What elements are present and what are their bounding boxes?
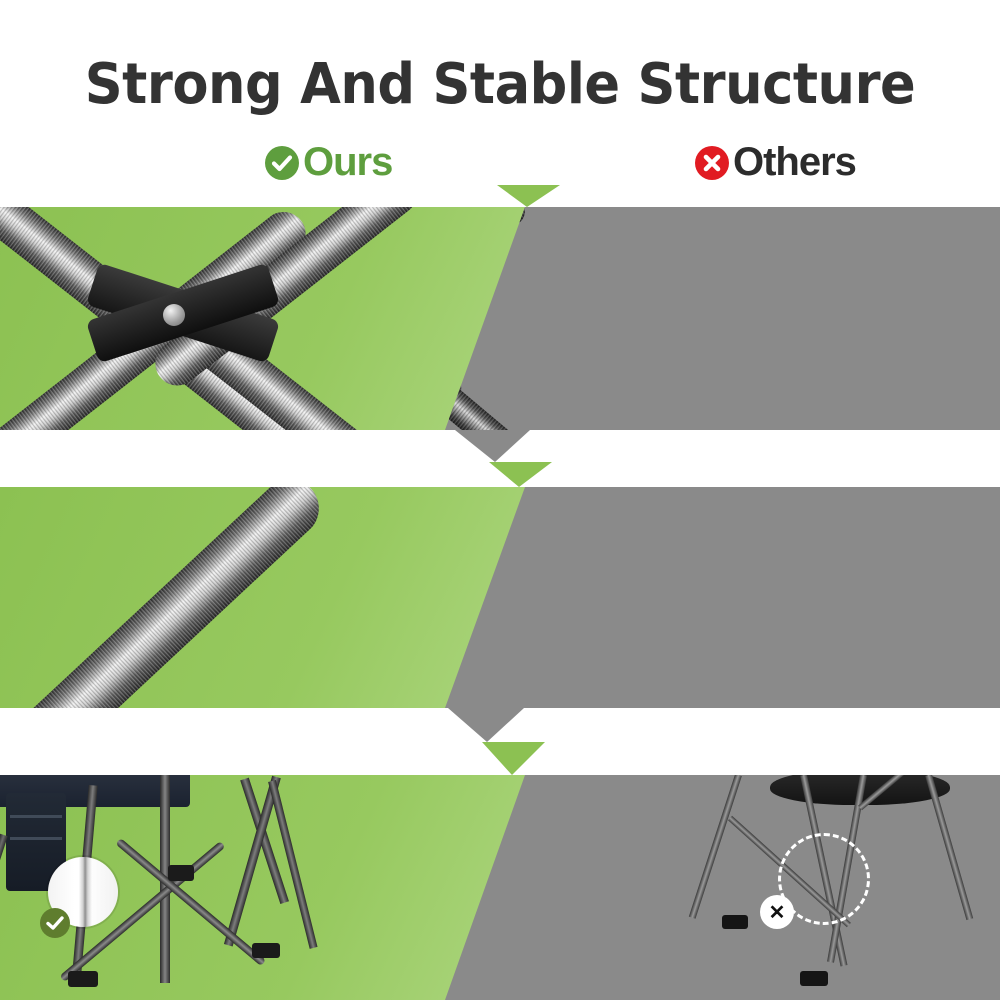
white-x-badge: ✕	[760, 895, 794, 929]
check-circle-icon	[265, 146, 299, 180]
chair-leg	[689, 775, 742, 919]
connector-rivet	[163, 304, 185, 326]
header-ours: Ours	[265, 140, 392, 185]
chair-foot	[800, 971, 828, 986]
chair-foot	[252, 943, 280, 958]
header-others-label: Others	[733, 140, 856, 185]
chair-leg	[925, 775, 973, 920]
comparison-row-frame-thickness: Thicker steel frame Ordinary steel frame…	[0, 487, 1000, 708]
comparison-row-support-frames: ✕ Four heavy- duty steel frames No suppo…	[0, 775, 1000, 1000]
chair-foot	[722, 915, 748, 929]
page-title: Strong And Stable Structure	[30, 52, 970, 117]
chair-foot	[68, 971, 98, 987]
header-ours-label: Ours	[303, 140, 392, 185]
check-badge-icon	[40, 908, 70, 938]
chair-brace-hub	[168, 865, 194, 881]
header-others: Others	[695, 140, 856, 185]
comparison-row-connector: Patented X-Shaped Connector Normal Safe …	[0, 207, 1000, 430]
x-circle-icon	[695, 146, 729, 180]
